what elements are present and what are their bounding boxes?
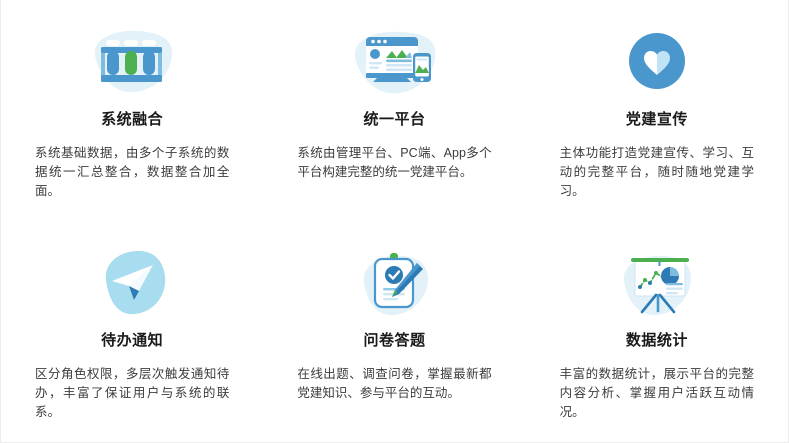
feature-description: 丰富的数据统计，展示平台的完整内容分析、掌握用户活跃互动情况。 bbox=[560, 365, 754, 422]
feature-description: 系统基础数据，由多个子系统的数据统一汇总整合，数据整合加全面。 bbox=[35, 144, 229, 201]
clipboard-pen-icon bbox=[348, 247, 440, 319]
feature-card-questionnaire[interactable]: 问卷答题 在线出题、调查问卷，掌握最新都党建知识、参与平台的互动。 bbox=[263, 221, 525, 442]
heart-circle-icon bbox=[611, 26, 703, 98]
multi-device-platform-icon bbox=[348, 26, 440, 98]
feature-description: 系统由管理平台、PC端、App多个平台构建完整的统一党建平台。 bbox=[297, 144, 491, 182]
feature-grid: 系统融合 系统基础数据，由多个子系统的数据统一汇总整合，数据整合加全面。 bbox=[0, 0, 789, 443]
feature-card-data-statistics[interactable]: 数据统计 丰富的数据统计，展示平台的完整内容分析、掌握用户活跃互动情况。 bbox=[526, 221, 788, 442]
feature-title: 数据统计 bbox=[626, 331, 688, 351]
feature-description: 在线出题、调查问卷，掌握最新都党建知识、参与平台的互动。 bbox=[297, 365, 491, 403]
feature-title: 待办通知 bbox=[101, 331, 163, 351]
feature-card-system-integration[interactable]: 系统融合 系统基础数据，由多个子系统的数据统一汇总整合，数据整合加全面。 bbox=[1, 0, 263, 221]
easel-chart-icon bbox=[611, 247, 703, 319]
feature-card-party-promotion[interactable]: 党建宣传 主体功能打造党建宣传、学习、互动的完整平台，随时随地党建学习。 bbox=[526, 0, 788, 221]
feature-description: 主体功能打造党建宣传、学习、互动的完整平台，随时随地党建学习。 bbox=[560, 144, 754, 201]
feature-card-unified-platform[interactable]: 统一平台 系统由管理平台、PC端、App多个平台构建完整的统一党建平台。 bbox=[263, 0, 525, 221]
feature-card-todo-notification[interactable]: 待办通知 区分角色权限，多层次触发通知待办，丰富了保证用户与系统的联系。 bbox=[1, 221, 263, 442]
feature-title: 统一平台 bbox=[363, 110, 425, 130]
paper-plane-icon bbox=[86, 247, 178, 319]
feature-title: 问卷答题 bbox=[363, 331, 425, 351]
feature-title: 党建宣传 bbox=[626, 110, 688, 130]
feature-title: 系统融合 bbox=[101, 110, 163, 130]
test-tube-rack-icon bbox=[86, 26, 178, 98]
feature-description: 区分角色权限，多层次触发通知待办，丰富了保证用户与系统的联系。 bbox=[35, 365, 229, 422]
